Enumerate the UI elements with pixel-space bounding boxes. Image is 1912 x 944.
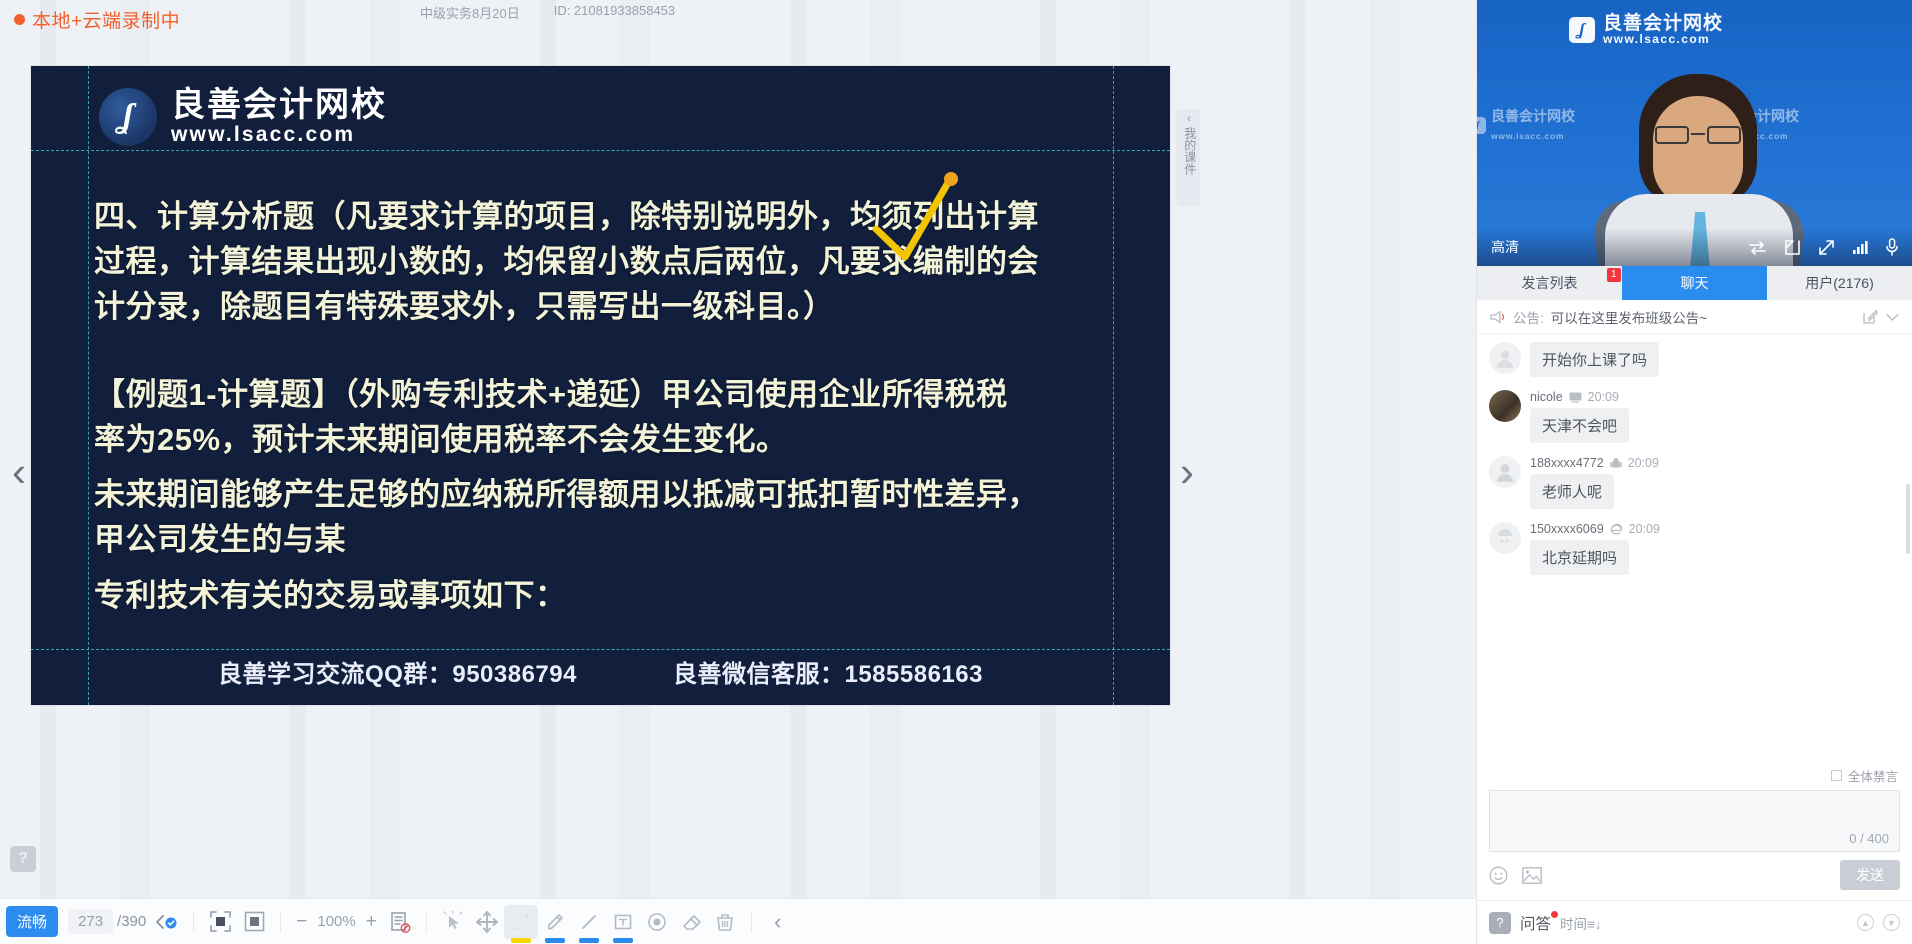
wechat-service-text: 良善微信客服：1585586163 [673, 654, 983, 689]
qa-icon[interactable]: ? [1489, 912, 1511, 934]
recording-dot-icon [14, 14, 25, 25]
slide-text-body: 四、计算分析题（凡要求计算的项目，除特别说明外，均须列出计算 过程，计算结果出现… [94, 196, 1130, 620]
speaker-list-badge: 1 [1607, 268, 1621, 282]
qa-time-label: 时间 [1560, 917, 1587, 932]
text-icon[interactable] [606, 905, 640, 939]
pc-client-icon [1569, 392, 1582, 403]
pencil-icon[interactable] [504, 905, 538, 939]
recording-status: 本地+云端录制中 [14, 6, 180, 33]
highlighter-icon[interactable] [538, 905, 572, 939]
slide-footer: 良善学习交流QQ群：950386794 良善微信客服：1585586163 [31, 654, 1170, 689]
stream-quality-button[interactable]: 流畅 [6, 906, 58, 937]
signal-icon[interactable] [1852, 240, 1868, 254]
slide-paragraph: 未来期间能够产生足够的应纳税所得额用以抵减可抵扣暂时性差异， [94, 474, 1130, 515]
slide-logo: ʆ 良善会计网校 www.lsacc.com [99, 88, 387, 146]
toolbar-divider [193, 911, 194, 933]
send-button[interactable]: 发送 [1840, 860, 1900, 890]
pencil-color-indicator [511, 938, 531, 943]
avatar[interactable] [1489, 522, 1521, 554]
chat-message-list[interactable]: 开始你上课了吗 nicole 20:09 天津不会吧 [1477, 334, 1912, 766]
qa-footer: ? 问答 时间≡↓ ▲ ▼ [1477, 900, 1912, 944]
qa-sort-icon: ≡↓ [1587, 917, 1602, 932]
mute-all-checkbox[interactable] [1831, 770, 1842, 781]
qa-unread-dot [1551, 911, 1558, 918]
watermark-name: 良善会计网校 [1491, 108, 1575, 124]
watermark-url: www.lsacc.com [1491, 131, 1564, 141]
my-courseware-tab[interactable]: ‹ 我的课件 [1178, 110, 1200, 206]
qa-expand-down-icon[interactable]: ▼ [1883, 914, 1900, 931]
recording-status-label: 本地+云端录制中 [32, 6, 180, 33]
slide-paragraph: 计分录，除题目有特殊要求外，只需写出一级科目。） [94, 286, 1130, 327]
switch-stream-icon[interactable] [1748, 240, 1767, 255]
message-time: 20:09 [1628, 456, 1659, 470]
laser-pointer-icon[interactable] [436, 905, 470, 939]
ie-client-icon [1610, 523, 1623, 536]
microphone-icon[interactable] [1885, 238, 1899, 256]
chat-message: nicole 20:09 天津不会吧 [1489, 390, 1900, 443]
qa-label[interactable]: 问答 [1520, 912, 1551, 934]
message-time: 20:09 [1629, 522, 1660, 536]
chevron-left-icon: ‹ [1178, 113, 1200, 125]
slide-paragraph: 【例题1-计算题】（外购专利技术+递延）甲公司使用企业所得税税 [94, 374, 1130, 415]
text-color-indicator [613, 938, 633, 943]
face-shape [1653, 96, 1743, 206]
eraser-icon[interactable] [674, 905, 708, 939]
message-sender: nicole [1530, 390, 1563, 404]
page-number-input[interactable]: 273 [68, 909, 113, 934]
presentation-toolbar: 流畅 273 /390 [0, 898, 1476, 944]
avatar[interactable] [1489, 390, 1521, 422]
collapse-toolbar-button[interactable]: ‹ [761, 905, 795, 939]
fit-screen-icon[interactable] [203, 905, 237, 939]
tab-users[interactable]: 用户(2176) [1767, 266, 1912, 300]
message-sender: 188xxxx4772 [1530, 456, 1604, 470]
announcement-text: 可以在这里发布班级公告~ [1551, 307, 1856, 327]
guide-line-top [31, 150, 1170, 151]
avatar[interactable] [1489, 342, 1521, 374]
tab-chat-label: 聊天 [1681, 273, 1709, 293]
megaphone-icon [1489, 310, 1506, 324]
android-client-icon [1610, 457, 1622, 470]
right-side-panel: ʆ 良善会计网校 www.lsacc.com ʆ 良善会计网校 www.lsac… [1476, 0, 1912, 944]
next-slide-button[interactable]: › [1170, 445, 1204, 499]
lsacc-logo-icon: ʆ [1477, 117, 1486, 134]
slide-paragraph: 专利技术有关的交易或事项如下： [94, 575, 1130, 616]
toolbar-divider [280, 911, 281, 933]
chat-message: 开始你上课了吗 [1489, 342, 1900, 377]
slide-paragraph: 过程，计算结果出现小数的，均保留小数点后两位，凡要求编制的会 [94, 241, 1130, 282]
notes-disabled-icon[interactable] [383, 905, 417, 939]
code-share-icon[interactable] [150, 905, 184, 939]
qa-sort-time[interactable]: 时间≡↓ [1560, 913, 1602, 933]
mute-all-label: 全体禁言 [1848, 766, 1898, 785]
chat-tabs: 发言列表 聊天 用户(2176) 1 [1477, 266, 1912, 300]
message-bubble: 老师人呢 [1530, 474, 1614, 509]
glasses-icon [1653, 126, 1743, 144]
tab-speaker-list[interactable]: 发言列表 [1477, 266, 1622, 300]
chat-input-area: 0 / 400 [1477, 790, 1912, 852]
session-meta: 中级实务8月20日 ID: 21081933858453 [420, 3, 675, 22]
message-bubble: 北京延期吗 [1530, 540, 1629, 575]
message-sender: 150xxxx6069 [1530, 522, 1604, 536]
page-total-label: /390 [117, 913, 146, 930]
zoom-in-button[interactable]: + [366, 911, 377, 933]
toolbar-divider [426, 911, 427, 933]
slide-logo-name: 良善会计网校 [171, 88, 387, 123]
chevron-down-icon[interactable] [1885, 312, 1900, 322]
qa-label-text: 问答 [1520, 916, 1551, 933]
chat-scrollbar[interactable] [1906, 484, 1910, 554]
char-counter: 0 / 400 [1849, 831, 1889, 846]
tab-users-label: 用户(2176) [1805, 273, 1873, 293]
mute-all-row[interactable]: 全体禁言 [1477, 766, 1912, 790]
move-icon[interactable] [470, 905, 504, 939]
guide-line-left [88, 66, 89, 705]
course-name: 中级实务8月20日 [420, 3, 520, 22]
announcement-label: 公告: [1513, 307, 1544, 327]
zoom-out-button[interactable]: − [296, 911, 307, 933]
emoji-icon[interactable] [1489, 866, 1508, 885]
my-courseware-label: 我的课件 [1182, 127, 1195, 175]
fullscreen-expand-icon[interactable] [237, 905, 271, 939]
slide-paragraph: 四、计算分析题（凡要求计算的项目，除特别说明外，均须列出计算 [94, 196, 1130, 237]
chat-input-tools: 发送 [1477, 852, 1912, 900]
chat-input-field[interactable]: 0 / 400 [1489, 790, 1900, 852]
tab-speaker-list-label: 发言列表 [1522, 273, 1578, 293]
tab-chat[interactable]: 聊天 [1622, 266, 1767, 300]
video-controls-bar: 高清 [1477, 228, 1912, 266]
help-button[interactable]: ? [10, 846, 36, 872]
video-logo-name: 良善会计网校 [1603, 14, 1723, 33]
image-icon[interactable] [1522, 867, 1542, 884]
qq-group-text: 良善学习交流QQ群：950386794 [218, 654, 577, 689]
line-icon[interactable] [572, 905, 606, 939]
lsacc-logo-icon: ʆ [1569, 17, 1595, 43]
zoom-controls: − 100% + [296, 911, 377, 933]
slide-paragraph: 率为25%，预计未来期间使用税率不会发生变化。 [94, 419, 1130, 460]
qa-collapse-up-icon[interactable]: ▲ [1857, 914, 1874, 931]
video-logo-url: www.lsacc.com [1603, 33, 1723, 45]
slide-logo-url: www.lsacc.com [171, 124, 387, 146]
message-bubble: 天津不会吧 [1530, 408, 1629, 443]
message-bubble: 开始你上课了吗 [1530, 342, 1659, 377]
chat-message: 150xxxx6069 20:09 北京延期吗 [1489, 522, 1900, 575]
video-quality-label[interactable]: 高清 [1491, 237, 1519, 257]
slide-paragraph: 甲公司发生的与某 [94, 519, 1130, 560]
zoom-level-label: 100% [317, 913, 355, 930]
teacher-video-player[interactable]: ʆ 良善会计网校 www.lsacc.com ʆ 良善会计网校 www.lsac… [1477, 0, 1912, 266]
main-presentation-area: 本地+云端录制中 中级实务8月20日 ID: 21081933858453 ʆ … [0, 0, 1476, 944]
slide-logo-text: 良善会计网校 www.lsacc.com [171, 88, 387, 145]
edit-announcement-icon[interactable] [1863, 309, 1878, 324]
message-time: 20:09 [1588, 390, 1619, 404]
trash-icon[interactable] [708, 905, 742, 939]
lsacc-logo-icon: ʆ [99, 88, 157, 146]
live-classroom-app: 本地+云端录制中 中级实务8月20日 ID: 21081933858453 ʆ … [0, 0, 1912, 944]
chevron-left-icon: ‹ [774, 911, 781, 933]
qa-nav-buttons: ▲ ▼ [1857, 914, 1900, 931]
popout-icon[interactable] [1784, 239, 1801, 256]
line-color-indicator [579, 938, 599, 943]
toolbar-divider [751, 911, 752, 933]
fullscreen-icon[interactable] [1818, 239, 1835, 256]
chat-message: 188xxxx4772 20:09 老师人呢 [1489, 456, 1900, 509]
avatar[interactable] [1489, 456, 1521, 488]
guide-line-bottom [31, 649, 1170, 650]
slide-canvas[interactable]: ʆ 良善会计网校 www.lsacc.com 四、计算分析题（凡要求计算的项目，… [31, 66, 1170, 705]
prev-slide-button[interactable]: ‹ [2, 445, 36, 499]
announcement-bar[interactable]: 公告: 可以在这里发布班级公告~ [1477, 300, 1912, 334]
page-indicator: 273 /390 [68, 909, 146, 934]
video-control-icons [1748, 238, 1899, 256]
video-logo: ʆ 良善会计网校 www.lsacc.com [1569, 14, 1723, 46]
session-id: ID: 21081933858453 [554, 3, 675, 22]
shape-icon[interactable] [640, 905, 674, 939]
highlighter-color-indicator [545, 938, 565, 943]
